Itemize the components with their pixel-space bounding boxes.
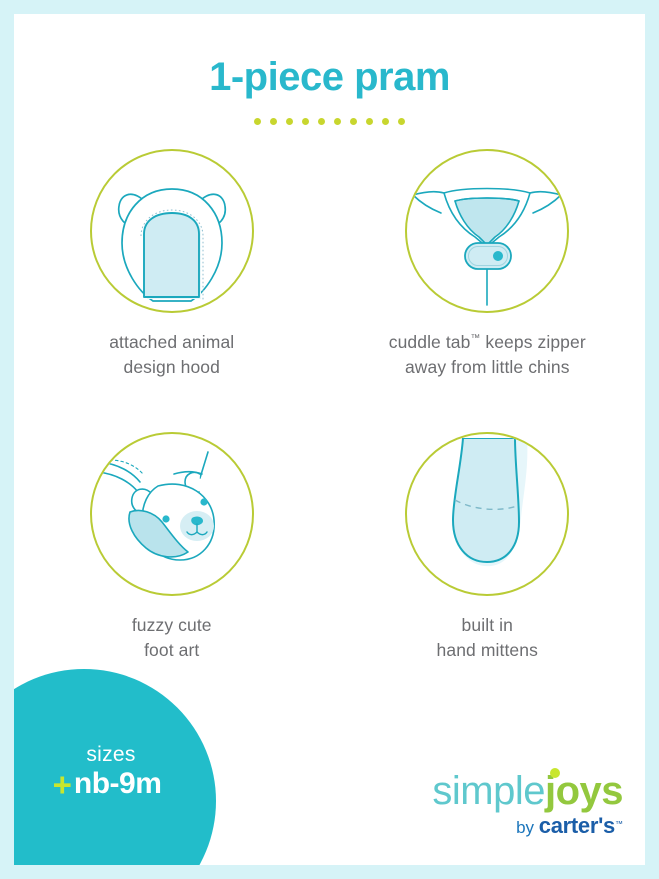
- feature-caption: cuddle tab™ keeps zipper away from littl…: [389, 330, 586, 380]
- divider-dot: [366, 118, 373, 125]
- logo-wordmark: simplejoys: [432, 771, 623, 811]
- divider-dot: [286, 118, 293, 125]
- logo-word-simple: simple: [432, 769, 545, 813]
- caption-line-2: away from little chins: [405, 357, 570, 377]
- feature-caption: attached animal design hood: [109, 330, 234, 380]
- divider-dot: [254, 118, 261, 125]
- hand-mitten-icon: [405, 432, 569, 596]
- feature-item: fuzzy cute foot art: [14, 432, 330, 663]
- caption-line-1: built in: [462, 615, 513, 635]
- divider-dot: [382, 118, 389, 125]
- trademark-symbol: ™: [470, 333, 480, 344]
- collar-cuddle-tab-zipper-icon: [405, 149, 569, 313]
- divider-dot: [334, 118, 341, 125]
- divider-dot: [398, 118, 405, 125]
- caption-line-1: attached animal: [109, 332, 234, 352]
- poster-content: 1-piece pram: [14, 14, 645, 865]
- caption-line-2: hand mittens: [437, 640, 538, 660]
- divider-dot: [270, 118, 277, 125]
- logo-word-carters: carter's: [539, 813, 615, 838]
- poster-frame: 1-piece pram: [0, 0, 659, 879]
- feature-item: built in hand mittens: [330, 432, 646, 663]
- brand-logo: simplejoys by carter's™: [432, 771, 623, 837]
- divider-dot: [350, 118, 357, 125]
- logo-joys-group: joys: [545, 771, 623, 811]
- feature-grid: attached animal design hood: [14, 149, 645, 662]
- caption-line-2: design hood: [124, 357, 220, 377]
- feature-item: cuddle tab™ keeps zipper away from littl…: [330, 149, 646, 380]
- hood-with-animal-ears-icon: [90, 149, 254, 313]
- size-badge-range: + nb-9m: [53, 768, 162, 801]
- size-badge-value: nb-9m: [74, 769, 162, 799]
- plus-icon: +: [53, 768, 72, 801]
- bear-face-foot-art-icon: [90, 432, 254, 596]
- caption-line-1: fuzzy cute: [132, 615, 212, 635]
- dot-divider: [14, 118, 645, 125]
- size-badge-label: sizes: [86, 744, 135, 765]
- caption-line-2: foot art: [144, 640, 199, 660]
- caption-line-1-pre: cuddle tab: [389, 332, 471, 352]
- logo-dot-icon: [550, 768, 560, 778]
- feature-caption: built in hand mittens: [437, 613, 538, 663]
- row-spacer: [14, 380, 645, 432]
- divider-dot: [318, 118, 325, 125]
- logo-word-by: by: [516, 818, 539, 837]
- logo-subline: by carter's™: [432, 815, 623, 837]
- feature-caption: fuzzy cute foot art: [132, 613, 212, 663]
- feature-item: attached animal design hood: [14, 149, 330, 380]
- caption-line-1-post: keeps zipper: [480, 332, 585, 352]
- size-badge: sizes + nb-9m: [14, 669, 216, 865]
- divider-dot: [302, 118, 309, 125]
- logo-trademark-symbol: ™: [615, 820, 623, 829]
- page-title: 1-piece pram: [14, 57, 645, 97]
